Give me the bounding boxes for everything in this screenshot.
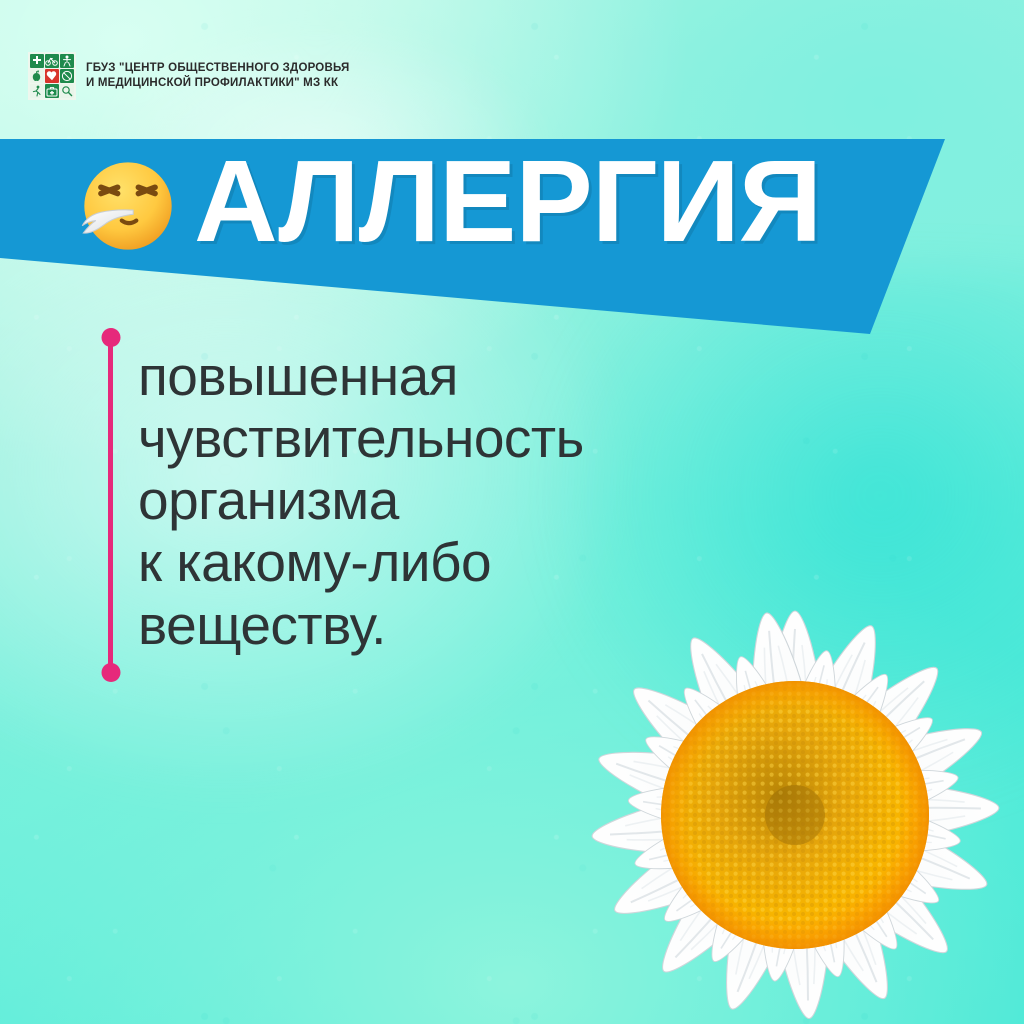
daisy-svg <box>400 448 1024 1024</box>
definition-line: повышенная <box>138 345 698 407</box>
accent-dot-top <box>101 328 120 347</box>
first-aid-kit-icon <box>45 84 59 98</box>
sneezing-face-emoji <box>76 154 180 258</box>
heart-icon <box>45 69 59 83</box>
magnifier-icon <box>60 84 74 98</box>
logo-block: ГБУЗ "ЦЕНТР ОБЩЕСТВЕННОГО ЗДОРОВЬЯ И МЕД… <box>28 52 349 100</box>
logo-icon-grid <box>28 52 76 100</box>
page-title: АЛЛЕРГИЯ <box>194 146 821 257</box>
medical-cross-icon <box>30 54 44 68</box>
allergy-infographic-poster: ГБУЗ "ЦЕНТР ОБЩЕСТВЕННОГО ЗДОРОВЬЯ И МЕД… <box>0 0 1024 1024</box>
apple-icon <box>30 69 44 83</box>
title-row: АЛЛЕРГИЯ <box>76 150 821 261</box>
person-exercise-icon <box>60 54 74 68</box>
accent-rule <box>108 337 113 673</box>
daisy-flower <box>400 448 1024 1024</box>
running-person-icon <box>30 84 44 98</box>
accent-dot-bottom <box>101 663 120 682</box>
bicycle-icon <box>45 54 59 68</box>
no-smoking-icon <box>60 69 74 83</box>
flower-center <box>661 681 929 949</box>
organization-name: ГБУЗ "ЦЕНТР ОБЩЕСТВЕННОГО ЗДОРОВЬЯ И МЕД… <box>86 61 349 90</box>
